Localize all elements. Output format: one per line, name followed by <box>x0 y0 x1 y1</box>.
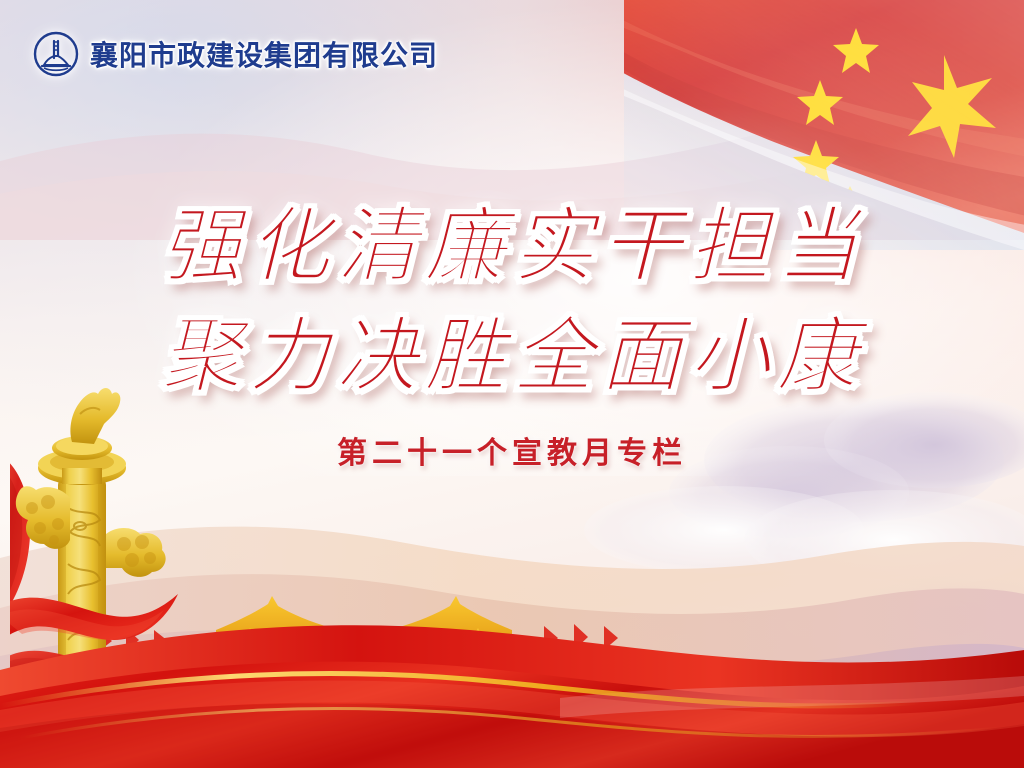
company-name: 襄阳市政建设集团有限公司 <box>90 34 438 74</box>
company-logo[interactable]: 襄阳市政建设集团有限公司 <box>32 30 438 78</box>
bridge-tower-emblem-icon <box>32 30 80 78</box>
red-silk-ribbon <box>0 578 1024 768</box>
poster-canvas: 襄阳市政建设集团有限公司 强化清廉实干担当 聚力决胜全面小康 第二十一个宣教月专… <box>0 0 1024 768</box>
china-flag <box>624 0 1024 250</box>
